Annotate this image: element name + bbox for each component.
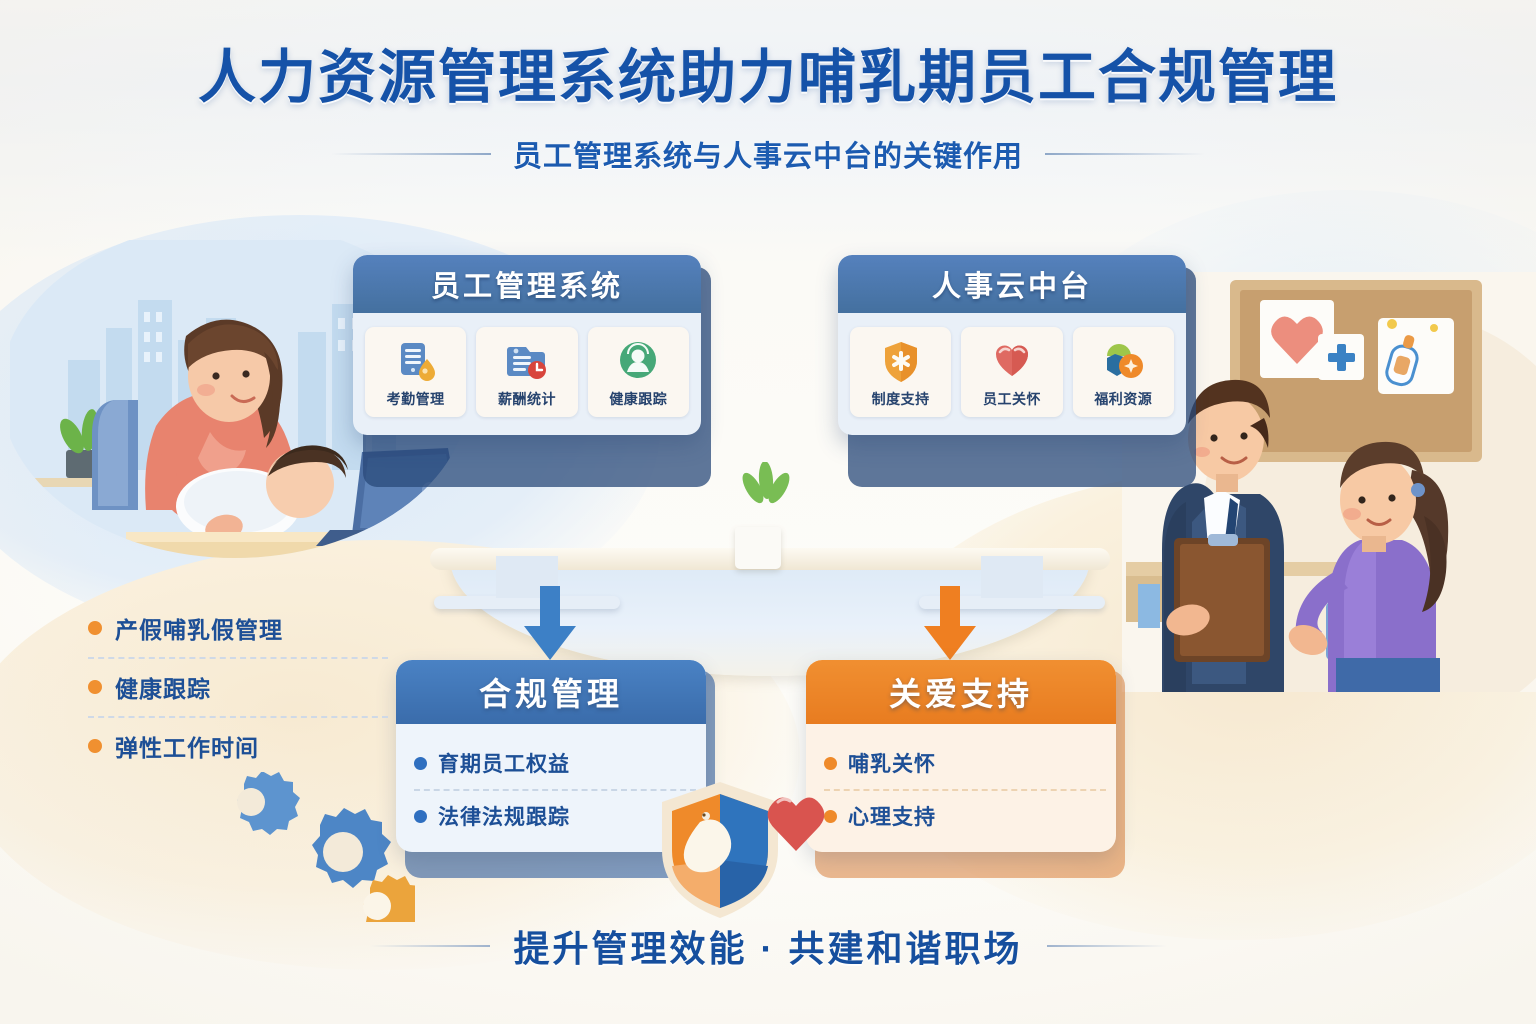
bullet-dot <box>88 621 102 635</box>
subtitle-row: 员工管理系统与人事云中台的关键作用 <box>0 133 1536 175</box>
plant-pot <box>735 527 781 569</box>
footer-rule-right <box>1047 945 1167 947</box>
tile-label-attendance: 考勤管理 <box>369 389 462 409</box>
arrow-to-compliance-icon <box>518 586 582 667</box>
list-item: 心理支持 <box>824 789 1106 842</box>
list-item-label: 产假哺乳假管理 <box>115 611 283 645</box>
monitor-neck-right <box>981 556 1043 598</box>
list-item-label: 哺乳关怀 <box>848 748 936 778</box>
tile-policy-support[interactable]: 制度支持 <box>850 327 951 417</box>
tile-welfare-resources[interactable]: 福利资源 <box>1073 327 1174 417</box>
bullet-dot <box>88 680 102 694</box>
document-drop-icon <box>369 337 462 383</box>
heart-icon <box>965 337 1058 383</box>
list-item-label: 弹性工作时间 <box>115 729 259 763</box>
panel-title-left: 员工管理系统 <box>431 263 623 305</box>
shapes-cluster-icon <box>1077 337 1170 383</box>
panel-hr-cloud-platform: 人事云中台 制 <box>838 255 1186 435</box>
tile-label-health-tracking: 健康跟踪 <box>592 389 685 409</box>
footer-rule-left <box>370 945 490 947</box>
list-item: 健康跟踪 <box>88 657 388 716</box>
list-item: 产假哺乳假管理 <box>88 600 388 657</box>
tile-health-tracking[interactable]: 健康跟踪 <box>588 327 689 417</box>
desk-potted-plant <box>735 462 795 569</box>
list-item-label: 法律法规跟踪 <box>438 801 570 831</box>
panel-screen-right: 制度支持 员工关怀 <box>838 313 1186 435</box>
bullet-dot <box>414 810 427 823</box>
card-body-care: 关爱支持 哺乳关怀 心理支持 <box>806 660 1116 852</box>
shield-star-icon <box>854 337 947 383</box>
subtitle-rule-right <box>1045 153 1205 155</box>
folder-clock-icon <box>480 337 573 383</box>
card-header-care: 关爱支持 <box>806 660 1116 724</box>
page-subtitle: 员工管理系统与人事云中台的关键作用 <box>513 133 1023 175</box>
shield-dove-heart-badge-icon <box>650 768 830 933</box>
person-circle-icon <box>592 337 685 383</box>
tile-label-payroll: 薪酬统计 <box>480 389 573 409</box>
tile-label-welfare-resources: 福利资源 <box>1077 389 1170 409</box>
card-title-care: 关爱支持 <box>889 669 1033 715</box>
footer-text: 提升管理效能 · 共建和谐职场 <box>514 920 1023 972</box>
card-care-support: 关爱支持 哺乳关怀 心理支持 <box>806 660 1116 852</box>
panel-employee-management-system: 员工管理系统 考勤管理 <box>353 255 701 435</box>
card-list-care: 哺乳关怀 心理支持 <box>806 724 1116 852</box>
tile-attendance[interactable]: 考勤管理 <box>365 327 466 417</box>
panel-screen-left: 考勤管理 薪酬统计 <box>353 313 701 435</box>
monitor-body-left: 员工管理系统 考勤管理 <box>353 255 701 435</box>
panel-header-left: 员工管理系统 <box>353 255 701 313</box>
list-item-label: 心理支持 <box>848 801 936 831</box>
list-item-label: 健康跟踪 <box>115 670 211 704</box>
gear-cluster-icon <box>185 772 415 927</box>
panel-title-right: 人事云中台 <box>932 263 1092 305</box>
list-item: 弹性工作时间 <box>88 716 388 775</box>
monitor-body-right: 人事云中台 制 <box>838 255 1186 435</box>
feature-list: 产假哺乳假管理 健康跟踪 弹性工作时间 <box>88 600 388 775</box>
tile-label-policy-support: 制度支持 <box>854 389 947 409</box>
tile-label-employee-care: 员工关怀 <box>965 389 1058 409</box>
panel-header-right: 人事云中台 <box>838 255 1186 313</box>
bullet-dot <box>88 739 102 753</box>
tile-employee-care[interactable]: 员工关怀 <box>961 327 1062 417</box>
poster-header: 人力资源管理系统助力哺乳期员工合规管理 员工管理系统与人事云中台的关键作用 <box>0 46 1536 175</box>
page-title: 人力资源管理系统助力哺乳期员工合规管理 <box>0 46 1536 111</box>
arrow-to-care-icon <box>918 586 982 667</box>
card-title-compliance: 合规管理 <box>479 669 623 715</box>
list-item: 哺乳关怀 <box>824 738 1106 789</box>
infographic-poster: 人力资源管理系统助力哺乳期员工合规管理 员工管理系统与人事云中台的关键作用 员工… <box>0 0 1536 1024</box>
tile-payroll[interactable]: 薪酬统计 <box>476 327 577 417</box>
list-item-label: 育期员工权益 <box>438 748 570 778</box>
poster-footer: 提升管理效能 · 共建和谐职场 <box>0 920 1536 972</box>
subtitle-rule-left <box>331 153 491 155</box>
card-header-compliance: 合规管理 <box>396 660 706 724</box>
bullet-dot <box>414 757 427 770</box>
